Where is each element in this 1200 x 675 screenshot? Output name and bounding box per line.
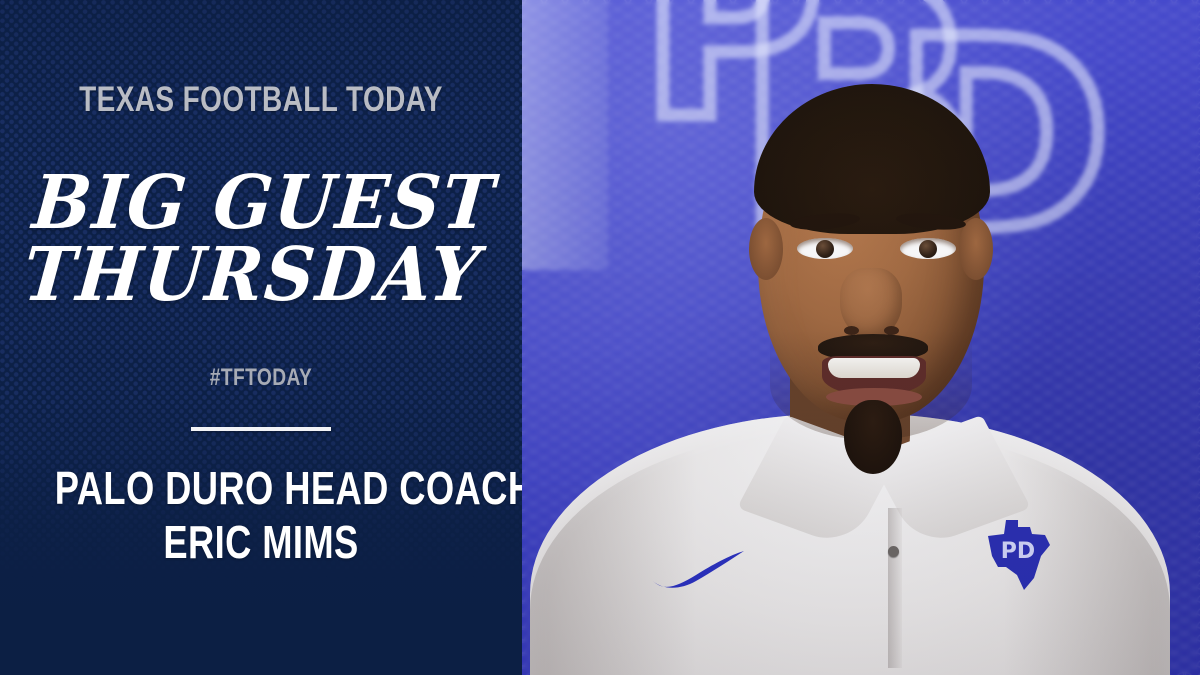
pupil-left: [816, 240, 834, 258]
eye-right: [900, 238, 956, 259]
show-title: TEXAS FOOTBALL TODAY: [52, 82, 470, 117]
segment-title-line-2: THURSDAY: [6, 240, 498, 312]
segment-title: BIG GUEST THURSDAY: [0, 168, 522, 312]
palo-duro-texas-logo-icon: PD: [984, 518, 1052, 592]
divider-rule: [191, 427, 331, 431]
ear-left: [749, 218, 783, 280]
shirt-placket: [888, 508, 902, 668]
svg-text:PD: PD: [1001, 539, 1035, 564]
title-panel: TEXAS FOOTBALL TODAY BIG GUEST THURSDAY …: [0, 0, 522, 675]
hair: [754, 84, 990, 234]
segment-title-line-1: BIG GUEST: [18, 168, 510, 240]
coach-portrait: PD: [522, 0, 1200, 675]
guest-name-line: ERIC MIMS: [55, 516, 467, 570]
pupil-right: [919, 240, 937, 258]
promo-graphic: P B D: [0, 0, 1200, 675]
guest-name-block: PALO DURO HEAD COACH ERIC MIMS: [0, 462, 522, 570]
ear-right: [959, 218, 993, 280]
teeth: [828, 358, 920, 378]
nike-swoosh-icon: [650, 548, 746, 588]
guest-photo: P B D: [522, 0, 1200, 675]
goatee: [844, 400, 902, 474]
guest-title-line: PALO DURO HEAD COACH: [55, 462, 467, 516]
shirt-button: [888, 546, 899, 557]
eye-left: [797, 238, 853, 259]
hashtag: #TFTODAY: [52, 366, 470, 390]
